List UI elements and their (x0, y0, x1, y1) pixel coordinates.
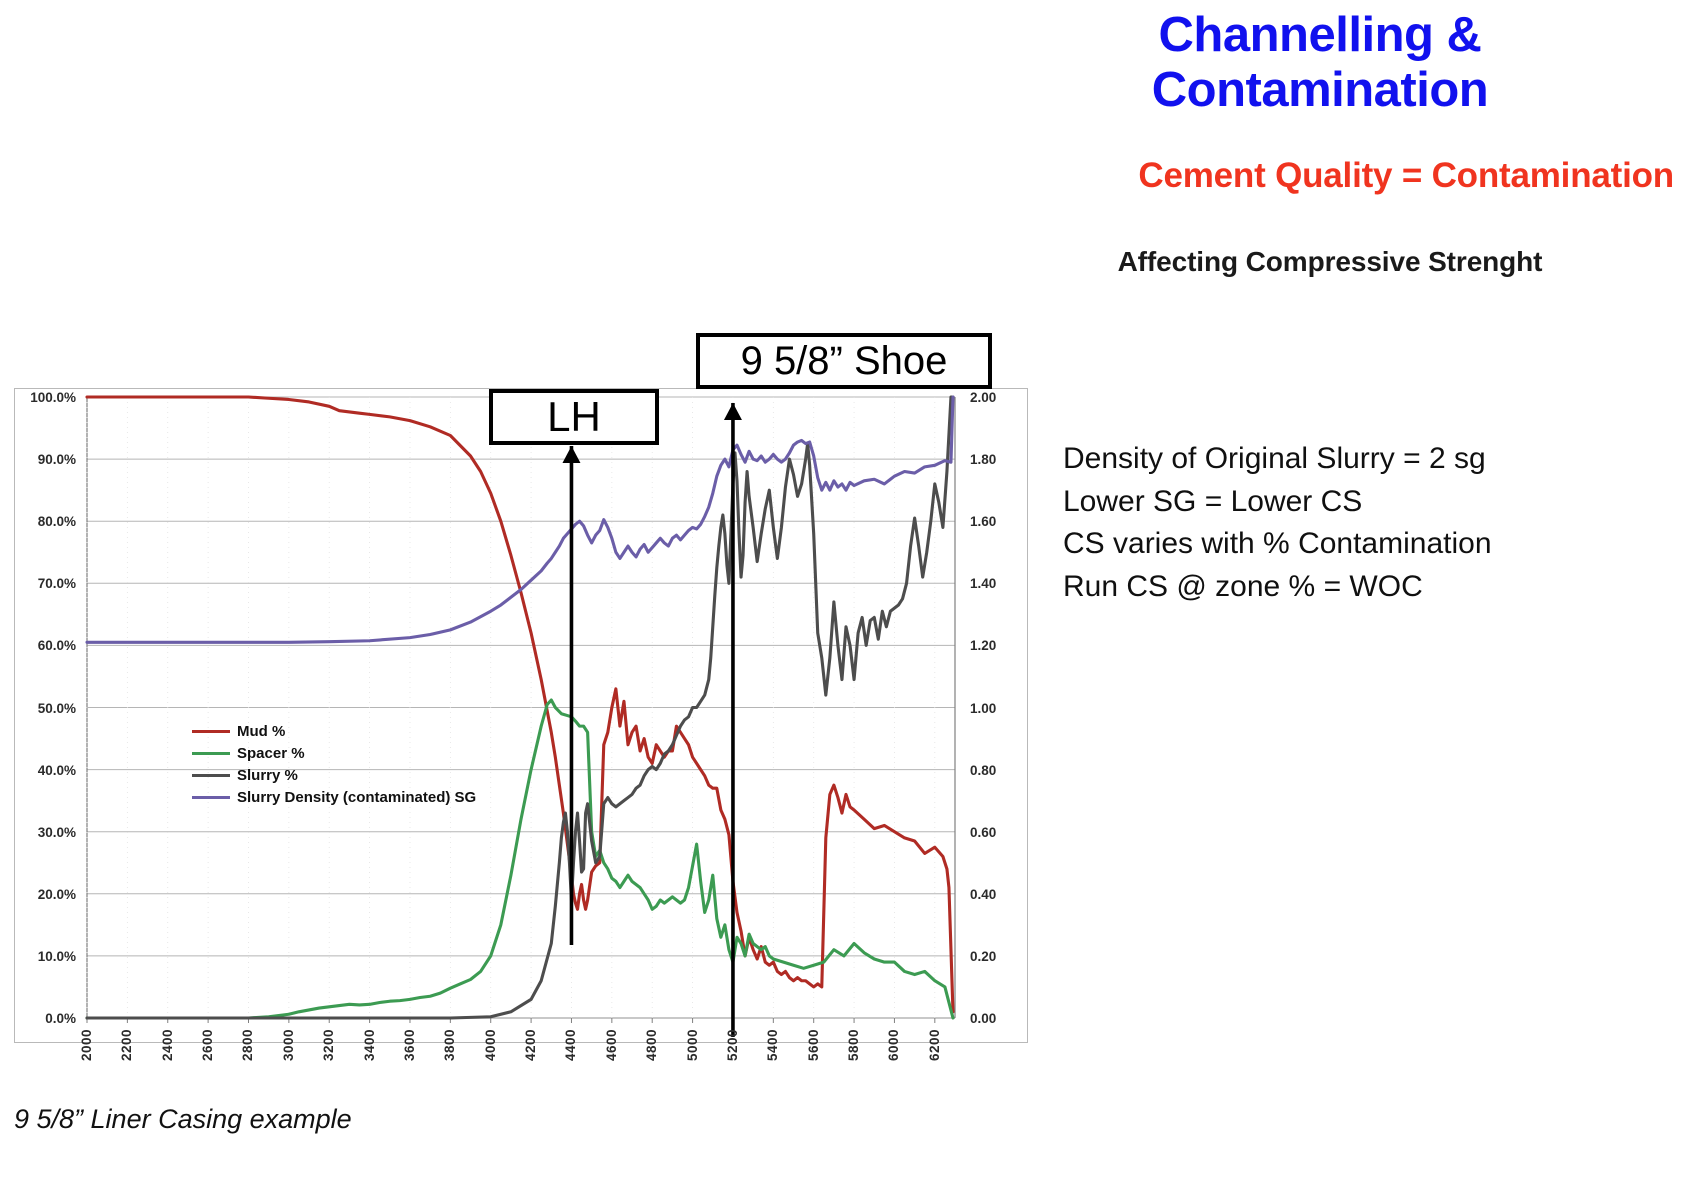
legend-label: Slurry Density (contaminated) SG (237, 789, 476, 806)
legend-swatch-0 (192, 730, 230, 733)
callout-arrow-head-0 (562, 446, 580, 463)
y-right-tick-label: 0.60 (970, 825, 1030, 840)
x-tick-label: 4000 (483, 1029, 498, 1061)
legend-swatch-3 (192, 796, 230, 799)
y-left-tick-label: 10.0% (14, 949, 76, 964)
x-tick-label: 5800 (846, 1029, 861, 1061)
callout-lh[interactable]: LH (489, 389, 659, 445)
x-tick-label: 5600 (806, 1029, 821, 1061)
x-tick-label: 2800 (240, 1029, 255, 1061)
x-tick-label: 2600 (200, 1029, 215, 1061)
y-left-tick-label: 40.0% (14, 763, 76, 778)
x-tick-label: 4400 (563, 1029, 578, 1061)
x-tick-label: 5200 (725, 1029, 740, 1061)
callout-arrow-head-1 (724, 403, 742, 420)
y-left-tick-label: 30.0% (14, 825, 76, 840)
legend-label: Spacer % (237, 745, 305, 762)
callout-lh-label: LH (547, 396, 601, 438)
y-right-tick-label: 1.20 (970, 638, 1030, 653)
page-title-line-1: Channelling & (1159, 8, 1482, 62)
y-right-tick-label: 0.20 (970, 949, 1030, 964)
x-tick-label: 6000 (886, 1029, 901, 1061)
y-left-tick-label: 70.0% (14, 576, 76, 591)
y-right-tick-label: 2.00 (970, 390, 1030, 405)
page-title-line-2: Contamination (1152, 63, 1488, 117)
legend-swatch-2 (192, 774, 230, 777)
legend-item[interactable]: Slurry % (192, 764, 476, 786)
x-tick-label: 4800 (644, 1029, 659, 1061)
slide-caption: 9 5/8” Liner Casing example (14, 1104, 352, 1135)
note-line: Density of Original Slurry = 2 sg (1063, 438, 1663, 481)
legend-swatch-1 (192, 752, 230, 755)
y-right-tick-label: 1.00 (970, 701, 1030, 716)
title-block: Channelling & Contamination Cement Quali… (940, 8, 1680, 278)
x-tick-label: 4600 (604, 1029, 619, 1061)
x-tick-label: 2200 (119, 1029, 134, 1061)
callout-shoe-label: 9 5/8” Shoe (741, 341, 948, 381)
x-tick-label: 2000 (79, 1029, 94, 1061)
x-tick-label: 3400 (362, 1029, 377, 1061)
y-left-tick-label: 90.0% (14, 452, 76, 467)
legend-label: Slurry % (237, 767, 298, 784)
contamination-chart: Mud %Spacer %Slurry %Slurry Density (con… (14, 388, 1030, 1088)
legend-item[interactable]: Spacer % (192, 742, 476, 764)
legend-item[interactable]: Mud % (192, 720, 476, 742)
y-right-tick-label: 0.80 (970, 763, 1030, 778)
y-left-tick-label: 0.0% (14, 1011, 76, 1026)
page-title: Channelling & Contamination (940, 8, 1680, 118)
notes-list: Density of Original Slurry = 2 sg Lower … (1063, 438, 1663, 608)
legend-label: Mud % (237, 723, 285, 740)
y-left-tick-label: 80.0% (14, 514, 76, 529)
y-right-tick-label: 1.80 (970, 452, 1030, 467)
note-line: CS varies with % Contamination (1063, 523, 1663, 566)
note-line: Run CS @ zone % = WOC (1063, 566, 1663, 609)
subtitle-compressive-strength: Affecting Compressive Strenght (940, 246, 1680, 278)
x-tick-label: 5000 (685, 1029, 700, 1061)
plot-frame (14, 388, 1028, 1043)
y-left-tick-label: 50.0% (14, 701, 76, 716)
y-left-tick-label: 100.0% (14, 390, 76, 405)
y-right-tick-label: 1.40 (970, 576, 1030, 591)
x-tick-label: 3800 (442, 1029, 457, 1061)
x-tick-label: 5400 (765, 1029, 780, 1061)
y-right-tick-label: 1.60 (970, 514, 1030, 529)
x-tick-label: 4200 (523, 1029, 538, 1061)
plot-canvas (15, 389, 1027, 1042)
y-left-tick-label: 60.0% (14, 638, 76, 653)
x-tick-label: 6200 (927, 1029, 942, 1061)
y-right-tick-label: 0.00 (970, 1011, 1030, 1026)
subtitle-cement-quality: Cement Quality = Contamination (940, 156, 1680, 196)
legend-item[interactable]: Slurry Density (contaminated) SG (192, 786, 476, 808)
note-line: Lower SG = Lower CS (1063, 481, 1663, 524)
y-left-tick-label: 20.0% (14, 887, 76, 902)
y-right-tick-label: 0.40 (970, 887, 1030, 902)
chart-legend: Mud %Spacer %Slurry %Slurry Density (con… (192, 720, 476, 808)
x-tick-label: 2400 (160, 1029, 175, 1061)
x-tick-label: 3000 (281, 1029, 296, 1061)
x-tick-label: 3200 (321, 1029, 336, 1061)
callout-shoe[interactable]: 9 5/8” Shoe (696, 333, 992, 389)
x-tick-label: 3600 (402, 1029, 417, 1061)
